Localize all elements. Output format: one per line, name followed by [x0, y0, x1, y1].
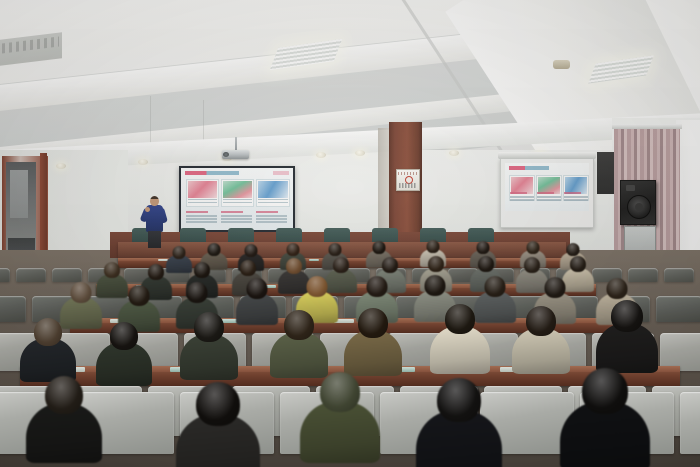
audience-chair[interactable] — [680, 392, 700, 454]
audience-member-head — [196, 382, 240, 426]
audience-member — [300, 372, 380, 467]
audience-member-head — [437, 378, 481, 422]
audience-member — [560, 368, 650, 467]
audience-member — [416, 378, 502, 467]
audience-member-head — [45, 376, 83, 414]
audience-member — [176, 382, 260, 467]
lecture-hall-photo — [0, 0, 700, 467]
audience-row-5-foreground — [0, 0, 700, 467]
audience-member — [26, 376, 102, 467]
audience-member-head — [582, 368, 628, 414]
audience-member-head — [320, 372, 360, 412]
